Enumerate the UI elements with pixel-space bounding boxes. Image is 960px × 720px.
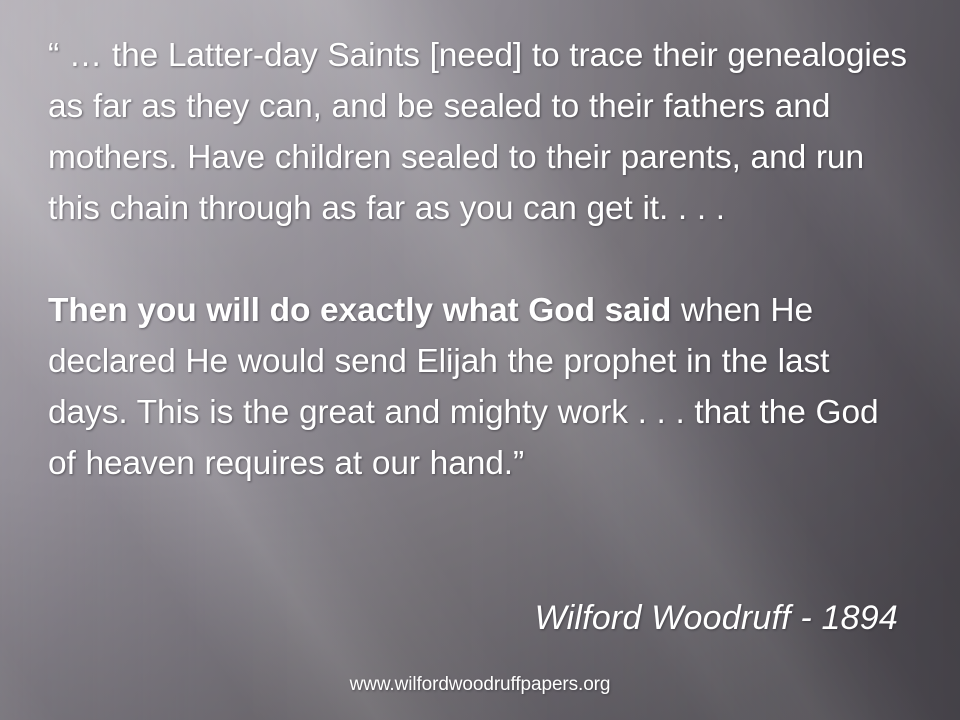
quote-slide: “ … the Latter-day Saints [need] to trac…	[0, 0, 960, 720]
quote-paragraph-1: “ … the Latter-day Saints [need] to trac…	[48, 30, 914, 234]
quote-paragraph-2: Then you will do exactly what God said w…	[48, 285, 914, 489]
slide-content: “ … the Latter-day Saints [need] to trac…	[0, 0, 960, 720]
quote-block: “ … the Latter-day Saints [need] to trac…	[48, 30, 914, 489]
footer-url: www.wilfordwoodruffpapers.org	[0, 672, 960, 698]
quote-emphasis-phrase: Then you will do exactly what God said	[48, 292, 671, 329]
paragraph-spacer	[48, 234, 914, 285]
quote-attribution: Wilford Woodruff - 1894	[48, 596, 898, 640]
